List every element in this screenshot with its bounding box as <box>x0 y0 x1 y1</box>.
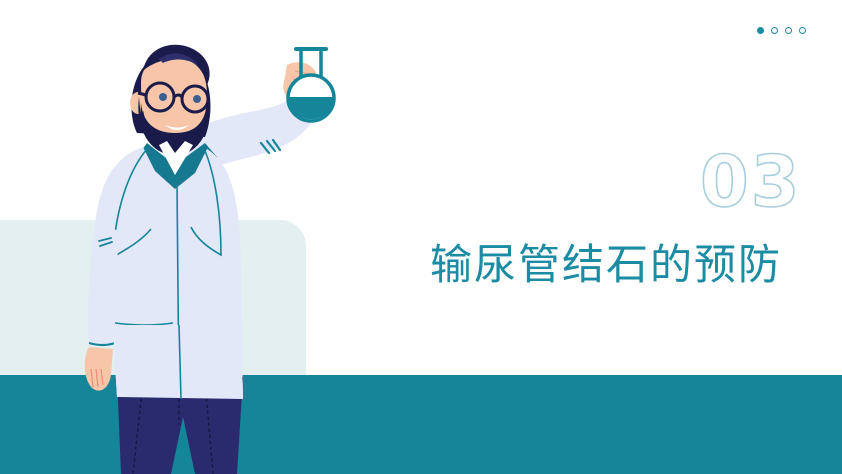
slide-canvas: 03 输尿管结石的预防 <box>0 0 842 474</box>
pagination-dot-1[interactable] <box>757 27 764 34</box>
pagination-dot-3[interactable] <box>785 27 792 34</box>
flask-icon <box>288 47 334 121</box>
pagination-dot-4[interactable] <box>799 27 806 34</box>
section-number: 03 <box>700 147 801 217</box>
coat-bottom <box>93 325 243 399</box>
eye-right <box>193 95 201 103</box>
pagination-dot-2[interactable] <box>771 27 778 34</box>
section-title: 输尿管结石的预防 <box>430 240 782 290</box>
eye-left <box>159 93 167 101</box>
pagination-dots[interactable] <box>757 27 806 34</box>
hand-lower <box>85 347 113 391</box>
scientist-illustration <box>55 25 355 474</box>
